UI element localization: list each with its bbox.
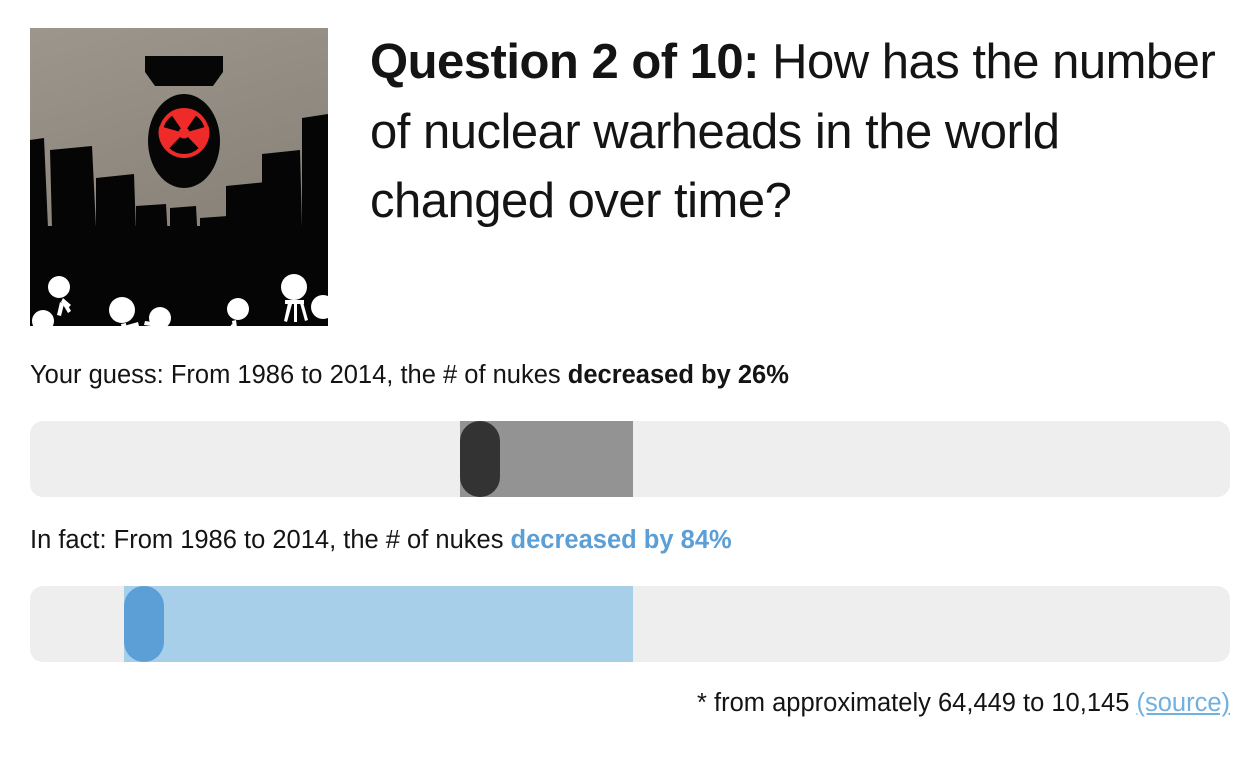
your-guess-slider-handle[interactable] [460, 421, 500, 497]
in-fact-label: In fact: From 1986 to 2014, the # of nuk… [30, 528, 732, 554]
question-counter: Question 2 of 10: [370, 35, 759, 89]
page-title: Question 2 of 10: How has the number of … [370, 28, 1230, 237]
your-guess-label: Your guess: From 1986 to 2014, the # of … [30, 363, 789, 389]
nuclear-bomb-city-icon [30, 28, 328, 326]
your-guess-prefix: Your guess: From 1986 to 2014, the # of … [30, 361, 568, 389]
in-fact-slider [30, 586, 1230, 662]
your-guess-slider[interactable] [30, 421, 1230, 497]
in-fact-value: decreased by 84% [511, 526, 732, 554]
question-header: Question 2 of 10: How has the number of … [30, 28, 1230, 326]
in-fact-prefix: In fact: From 1986 to 2014, the # of nuk… [30, 526, 511, 554]
question-illustration [30, 28, 328, 326]
footnote-text: * from approximately 64,449 to 10,145 [697, 689, 1136, 717]
your-guess-value: decreased by 26% [568, 361, 789, 389]
footnote: * from approximately 64,449 to 10,145 (s… [697, 691, 1230, 717]
source-link[interactable]: (source) [1136, 689, 1230, 717]
in-fact-slider-handle [124, 586, 164, 662]
in-fact-slider-fill [124, 586, 633, 662]
